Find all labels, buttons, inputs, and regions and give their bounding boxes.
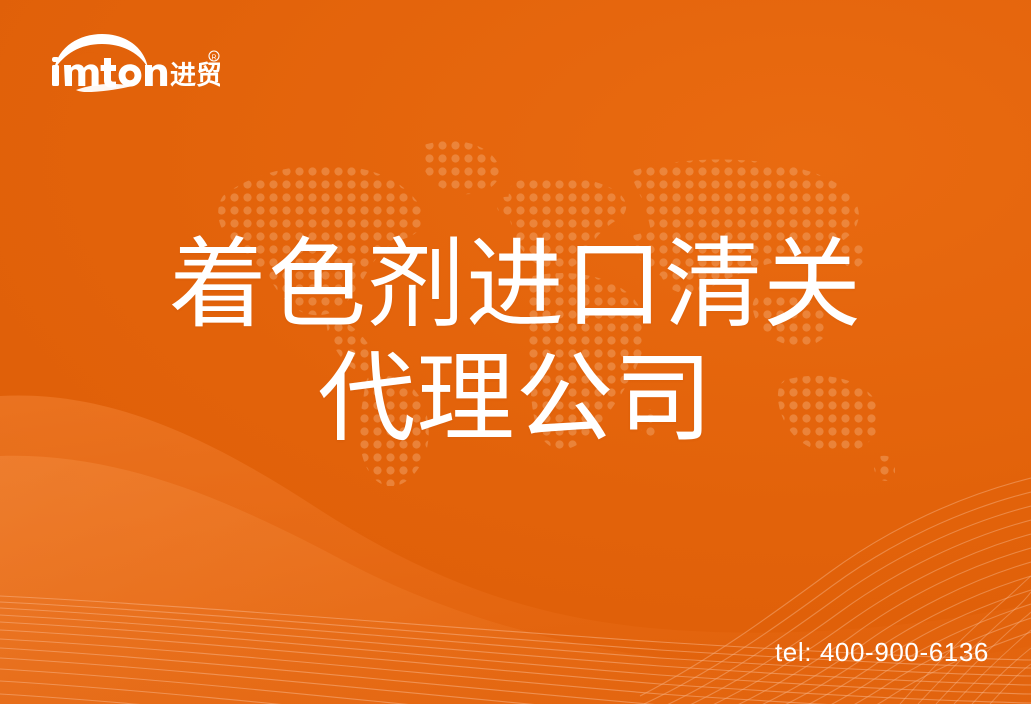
registered-trademark-icon: R [209, 51, 219, 61]
svg-text:进贸通: 进贸通 [170, 60, 220, 90]
contact-telephone[interactable]: tel: 400-900-6136 [775, 637, 989, 668]
poster-canvas: 进贸通 R 着色剂进口清关 代理公司 tel: 400-900-6136 [0, 0, 1031, 704]
svg-text:R: R [211, 54, 216, 61]
headline-line-2: 代理公司 [0, 342, 1031, 456]
globe-arc-icon [54, 34, 148, 70]
brand-chinese-wordmark: 进贸通 [170, 60, 220, 90]
headline-line-1: 着色剂进口清关 [0, 228, 1031, 342]
brand-latin-wordmark [52, 57, 167, 88]
crosshatch-sweep-lines [600, 470, 1031, 704]
brand-logo[interactable]: 进贸通 R [40, 28, 220, 94]
page-title: 着色剂进口清关 代理公司 [0, 228, 1031, 455]
